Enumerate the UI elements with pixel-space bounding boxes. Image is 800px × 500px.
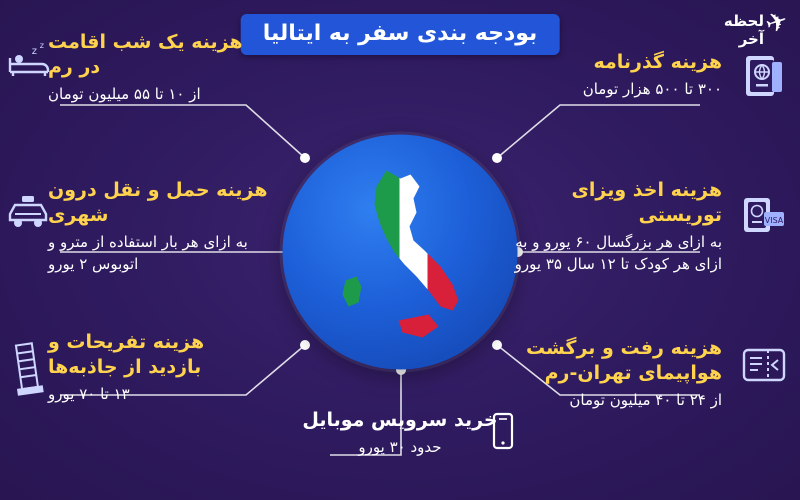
item-visa-heading: هزینه اخذ ویزای توریستی <box>507 178 722 228</box>
taxi-icon <box>4 190 52 242</box>
item-visa-detail: به ازای هر بزرگسال ۶۰ یورو و به ازای هر … <box>507 232 722 276</box>
item-transport: هزینه حمل و نقل درون شهری به ازای هر بار… <box>48 178 268 276</box>
page-title: بودجه بندی سفر به ایتالیا <box>241 14 560 55</box>
svg-text:z: z <box>40 41 44 50</box>
item-fun: هزینه تفریحات و بازدید از جاذبه‌ها ۱۳ تا… <box>48 330 263 406</box>
item-hotel: هزینه یک شب اقامت در رم از ۱۰ تا ۵۵ میلی… <box>48 30 268 106</box>
brand-line1: لحظه <box>724 12 764 30</box>
airplane-icon: ✈ <box>763 7 792 38</box>
item-transport-detail: به ازای هر بار استفاده از مترو و اتوبوس … <box>48 232 268 276</box>
italy-map-globe <box>283 135 518 370</box>
item-fun-heading: هزینه تفریحات و بازدید از جاذبه‌ها <box>48 330 263 380</box>
tower-of-pisa-icon <box>8 338 52 400</box>
visa-card-icon: VISA <box>738 190 790 246</box>
brand-line2: آخر <box>739 30 764 48</box>
item-hotel-heading: هزینه یک شب اقامت در رم <box>48 30 268 80</box>
mobile-phone-icon <box>486 410 520 458</box>
infographic-canvas: ✈ لحظه آخر بودجه بندی سفر به ایتالیا <box>0 0 800 500</box>
brand-logo: ✈ لحظه آخر <box>694 8 790 54</box>
bed-icon: z z <box>4 40 52 92</box>
item-flight-detail: از ۲۴ تا ۴۰ میلیون تومان <box>507 390 722 412</box>
item-flight: هزینه رفت و برگشت هواپیمای تهران-رم از ۲… <box>507 336 722 412</box>
item-passport-detail: ۳۰۰ تا ۵۰۰ هزار تومان <box>512 79 722 101</box>
passport-icon <box>738 50 790 106</box>
item-visa: هزینه اخذ ویزای توریستی به ازای هر بزرگس… <box>507 178 722 276</box>
svg-text:VISA: VISA <box>765 216 784 225</box>
item-fun-detail: ۱۳ تا ۷۰ یورو <box>48 384 263 406</box>
item-transport-heading: هزینه حمل و نقل درون شهری <box>48 178 268 228</box>
svg-text:z: z <box>32 46 37 57</box>
item-passport: هزینه گذرنامه ۳۰۰ تا ۵۰۰ هزار تومان <box>512 50 722 101</box>
item-flight-heading: هزینه رفت و برگشت هواپیمای تهران-رم <box>507 336 722 386</box>
item-hotel-detail: از ۱۰ تا ۵۵ میلیون تومان <box>48 84 268 106</box>
ticket-icon <box>738 340 790 396</box>
item-passport-heading: هزینه گذرنامه <box>512 50 722 75</box>
